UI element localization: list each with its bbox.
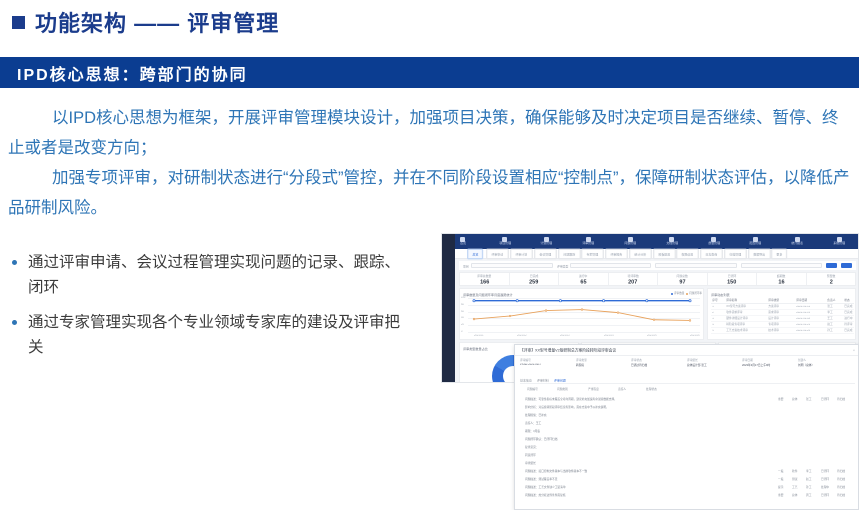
line-chart-plot: 1008060402002023-012023-022023-032023-04… — [468, 298, 700, 332]
data-point — [689, 320, 691, 322]
y-axis-tick: 80 — [461, 303, 464, 306]
stat-value: 207 — [628, 278, 637, 284]
detail-row-text: 复查意见： — [525, 445, 539, 449]
filter-input-4[interactable] — [741, 263, 822, 268]
dashboard-sidebar[interactable] — [442, 234, 455, 383]
filter-bar[interactable]: 项目 评审类型 — [459, 261, 856, 270]
detail-row-meta-item: 工艺 — [792, 485, 797, 489]
detail-row[interactable]: 责任人：王工 — [525, 419, 855, 427]
detail-row-meta-item: 李工 — [806, 469, 811, 473]
detail-row-meta: 一般软件李工已闭环待归档 — [778, 470, 855, 473]
tab-归档管理[interactable]: 归档管理 — [724, 248, 747, 259]
x-axis-tick: 2023-04 — [604, 335, 614, 338]
list-item-label: 通过专家管理实现各个专业领域专家库的建设及评审把关 — [28, 314, 400, 356]
tab-日志查询[interactable]: 日志查询 — [700, 248, 723, 259]
data-point — [509, 315, 511, 317]
y-axis-tick: 20 — [461, 324, 464, 327]
nav-item-评审管理[interactable]: 评审管理 — [567, 237, 609, 246]
data-point — [545, 310, 547, 312]
table-cell: 已完成 — [843, 311, 858, 315]
filter-label-1: 项目 — [463, 263, 469, 268]
tab-会议管理[interactable]: 会议管理 — [534, 248, 557, 259]
detail-row-meta: 重要总体周工已闭环待归档 — [778, 494, 855, 497]
detail-row-meta-item: 已闭环 — [821, 493, 829, 497]
folder-icon — [502, 237, 507, 242]
x-axis-tick: 2023-05 — [647, 335, 657, 338]
detail-subheader: 问题类别 — [557, 388, 568, 392]
tab-评审申请[interactable]: 评审申请 — [486, 248, 509, 259]
gridline — [468, 332, 700, 333]
nav-item-label: 质量管理 — [708, 242, 720, 246]
detail-row-meta-item: 待归档 — [837, 469, 845, 473]
detail-row-meta-item: 重要 — [778, 397, 783, 401]
detail-field: 评审组长总体设计部 张工 — [687, 359, 743, 367]
nav-item-label: 文档管理 — [666, 242, 678, 246]
detail-row-text: 问题描述：可靠性指标未覆盖全寿命周期，建议补充加速寿命试验数据支撑。 — [525, 397, 617, 401]
nav-item-配置管理[interactable]: 配置管理 — [735, 237, 777, 246]
doc-icon — [669, 237, 674, 242]
stat-value: 97 — [679, 278, 685, 284]
tab-权限设置[interactable]: 权限设置 — [676, 248, 699, 259]
y-axis-tick: 0 — [461, 331, 462, 334]
nav-item-项目管理[interactable]: 项目管理 — [484, 237, 526, 246]
nav-item-label: 项目管理 — [499, 242, 511, 246]
nav-item-label: 问题管理 — [624, 242, 636, 246]
data-point — [689, 300, 691, 302]
detail-tab-评审材料[interactable]: 评审材料 — [537, 377, 549, 382]
nav-item-label: 计划管理 — [541, 242, 553, 246]
column-header: 状态 — [843, 299, 858, 303]
tab-模板配置[interactable]: 模板配置 — [653, 248, 676, 259]
nav-item-系统管理[interactable]: 系统管理 — [818, 237, 859, 246]
table-card: 评审动态列表 序号评审名称评审类型评审日期负责人状态1XX型号方案评审方案评审2… — [707, 288, 856, 340]
home-icon — [460, 237, 465, 242]
detail-field-grid: 评审编号PSSR-2023-0317评审类型转阶段评审状态已通过待归档评审组长总… — [520, 359, 855, 367]
detail-row[interactable]: 审查组长 — [525, 459, 855, 467]
detail-field: 评审状态已通过待归档 — [631, 359, 687, 367]
detail-row[interactable]: 复查意见： — [525, 443, 855, 451]
detail-row-text: 审查组长 — [525, 461, 536, 465]
detail-subheader: 问题编号 — [527, 388, 538, 392]
nav-item-label: 系统管理 — [833, 242, 845, 246]
stat-card: 已完成259 — [510, 273, 560, 285]
reset-button[interactable] — [841, 263, 852, 268]
paragraph-2: 加强专项评审，对研制状态进行“分段式”管控，并在不同阶段设置相应“控制点”，保障… — [8, 163, 853, 223]
detail-tab-评审问题[interactable]: 评审问题 — [554, 377, 566, 382]
stat-card: 待评审数207 — [609, 273, 659, 285]
legend-entry: 问题闭环率 — [686, 292, 699, 295]
detail-row-text: 处理措施：已补充 — [525, 413, 547, 417]
flag-icon — [628, 237, 633, 242]
legend-label: 评审数量 — [674, 292, 684, 296]
tab-评审计划[interactable]: 评审计划 — [510, 248, 533, 259]
detail-row-text: 责任人：王工 — [525, 421, 541, 425]
x-axis-tick: 2023-06 — [690, 335, 700, 338]
detail-row-meta-item: 赵工 — [806, 477, 811, 481]
detail-row-meta-item: 待归档 — [837, 485, 845, 489]
detail-row-meta: 提示工艺孙工处理中待归档 — [778, 486, 855, 489]
stat-card: 已闭环150 — [708, 273, 758, 285]
stat-card: 预警数2 — [807, 273, 856, 285]
detail-panel-header: 【评审】XX型号增量V2版研制总方案阶段转阶段评审会议 × — [515, 345, 859, 356]
nav-item-统计报表[interactable]: 统计报表 — [776, 237, 818, 246]
bullet-dot-icon — [12, 260, 17, 265]
search-button[interactable] — [826, 263, 837, 268]
nav-item-质量管理[interactable]: 质量管理 — [693, 237, 735, 246]
detail-row-meta-item: 待归档 — [837, 397, 845, 401]
stat-value: 65 — [580, 278, 586, 284]
data-point — [646, 300, 648, 302]
series-问题闭环率 — [474, 310, 690, 321]
detail-row-meta-item: 总体 — [792, 397, 797, 401]
x-axis-tick: 2023-02 — [517, 335, 527, 338]
chart-icon — [795, 237, 800, 242]
detail-subheader: 责任人 — [618, 388, 626, 392]
detail-row[interactable]: 影响分析：对后续转阶段评审结论有影响，需在方案中予以补充说明。 — [525, 403, 855, 411]
title-marker-icon — [12, 16, 25, 29]
detail-row-meta-item: 周工 — [806, 493, 811, 497]
line-chart-card: 评审数量及问题闭环率月度趋势统计 评审数量问题闭环率 1008060402002… — [459, 288, 704, 340]
detail-row-meta-item: 提示 — [778, 485, 783, 489]
tab-专家管理[interactable]: 专家管理 — [581, 248, 604, 259]
detail-row-meta-item: 重要 — [778, 493, 783, 497]
detail-row-text: 问题描述：热分析边界条件需复核 — [525, 493, 566, 497]
filter-label-2: 评审类型 — [557, 263, 568, 268]
detail-row-meta: 一般测试赵工已闭环待归档 — [778, 478, 855, 481]
calendar-icon — [544, 237, 549, 242]
detail-row-text: 同意闭环 — [525, 453, 536, 457]
detail-row[interactable]: 问题闭环确认：已闭环归档 — [525, 435, 855, 443]
detail-row-meta-item: 已闭环 — [821, 469, 829, 473]
table-cell: 已完成 — [843, 305, 858, 309]
bullet-dot-icon — [12, 320, 17, 325]
gear-icon — [753, 237, 758, 242]
data-point — [653, 319, 655, 321]
detail-row-text: 问题描述：接口控制文件版本与当前软件版本不一致 — [525, 469, 587, 473]
list-item-label: 通过评审申请、会议过程管理实现问题的记录、跟踪、闭环 — [28, 254, 400, 296]
stat-value: 2 — [829, 278, 832, 284]
detail-subheader: 严重程度 — [588, 388, 599, 392]
detail-row[interactable]: 问题描述：工艺文件缺少工装清单提示工艺孙工处理中待归档 — [525, 483, 855, 491]
nav-item-label: 首页 — [460, 242, 466, 246]
detail-rows: 问题描述：可靠性指标未覆盖全寿命周期，建议补充加速寿命试验数据支撑。重要总体张工… — [525, 395, 855, 499]
detail-row-meta-item: 待归档 — [837, 477, 845, 481]
data-point — [516, 300, 518, 302]
data-point — [473, 318, 475, 320]
detail-field-value: 刘明（总体） — [798, 364, 859, 368]
list-item: 通过评审申请、会议过程管理实现问题的记录、跟踪、闭环 — [10, 250, 410, 300]
section-banner-text: IPD核心思想：跨部门的协同 — [0, 61, 248, 85]
list-item: 通过专家管理实现各个专业领域专家库的建设及评审把关 — [10, 310, 410, 360]
table-row[interactable]: 5工艺方案技术评审技术评审2023-03-25孙工已完成 — [711, 328, 854, 334]
stat-card: 评审总数量166 — [460, 273, 510, 285]
nav-item-文档管理[interactable]: 文档管理 — [651, 237, 693, 246]
stat-card: 问题总数97 — [658, 273, 708, 285]
bullet-list: 通过评审申请、会议过程管理实现问题的记录、跟踪、闭环 通过专家管理实现各个专业领… — [10, 250, 410, 370]
legend-dot-icon — [686, 293, 688, 295]
detail-row-text: 问题描述：工艺文件缺少工装清单 — [525, 485, 566, 489]
stat-card-row: 评审总数量166已完成259进行中65待评审数207问题总数97已闭环150超期… — [459, 272, 856, 286]
detail-row-meta-item: 处理中 — [821, 485, 829, 489]
shield-icon — [711, 237, 716, 242]
detail-row-text: 影响分析：对后续转阶段评审结论有影响，需在方案中予以补充说明。 — [525, 405, 609, 409]
detail-field: 评审类型转阶段 — [576, 359, 632, 367]
dashboard-topnav[interactable]: 首页项目管理计划管理评审管理问题管理文档管理质量管理配置管理统计报表系统管理 — [442, 234, 859, 249]
legend-entry: 评审数量 — [671, 292, 682, 295]
tab-问题跟踪[interactable]: 问题跟踪 — [558, 248, 581, 259]
tab-数据导出[interactable]: 数据导出 — [748, 248, 771, 259]
detail-subheaders: 问题编号问题类别严重程度责任人处理状态 — [527, 386, 855, 393]
detail-field-label: 创建人 — [798, 359, 859, 363]
nav-item-label: 统计报表 — [791, 242, 803, 246]
tab-统计分析[interactable]: 统计分析 — [629, 248, 652, 259]
settings-icon — [837, 237, 842, 242]
stat-value: 16 — [778, 278, 784, 284]
table-card-title: 评审动态列表 — [711, 292, 859, 297]
x-axis-tick: 2023-01 — [474, 335, 484, 338]
detail-row[interactable]: 期限：3月底 — [525, 427, 855, 435]
stat-value: 150 — [727, 278, 736, 284]
data-point — [603, 300, 605, 302]
legend-label: 问题闭环率 — [689, 292, 702, 296]
detail-row-meta-item: 已闭环 — [821, 397, 829, 401]
filter-input-1[interactable] — [471, 263, 552, 268]
detail-field: 评审编号PSSR-2023-0317 — [520, 359, 576, 367]
detail-row-meta-item: 软件 — [792, 469, 797, 473]
stat-value: 166 — [480, 278, 489, 284]
body-paragraphs: 以IPD核心思想为框架，开展评审管理模块设计，加强项目决策，确保能够及时决定项目… — [8, 103, 853, 223]
detail-row-text: 问题描述：测试覆盖率不足 — [525, 477, 557, 481]
detail-row-text: 问题闭环确认：已闭环归档 — [525, 437, 557, 441]
table-cell: 待评审 — [843, 323, 858, 327]
stat-value: 259 — [529, 278, 538, 284]
detail-tab-基本信息[interactable]: 基本信息 — [520, 377, 532, 382]
filter-input-2[interactable] — [570, 263, 651, 268]
close-icon[interactable]: × — [853, 347, 855, 352]
table-cell: 进行中 — [843, 317, 858, 321]
section-banner: IPD核心思想：跨部门的协同 — [0, 57, 859, 88]
detail-field: 评审日期2023年3月17日上午9时 — [742, 359, 798, 367]
detail-row[interactable]: 处理措施：已补充 — [525, 411, 855, 419]
detail-row-meta-item: 总体 — [792, 493, 797, 497]
y-axis-tick: 60 — [461, 310, 464, 313]
detail-field: 创建人刘明（总体） — [798, 359, 854, 367]
dashboard-tabs[interactable]: 总览评审申请评审计划会议管理问题跟踪专家管理评审报告统计分析模板配置权限设置日志… — [455, 249, 859, 259]
detail-row-meta-item: 张工 — [806, 397, 811, 401]
detail-row[interactable]: 问题描述：接口控制文件版本与当前软件版本不一致一般软件李工已闭环待归档 — [525, 467, 855, 475]
data-point — [559, 300, 561, 302]
legend-dot-icon — [671, 293, 673, 295]
detail-row-meta-item: 待归档 — [837, 493, 845, 497]
y-axis-tick: 100 — [461, 297, 465, 300]
detail-tabs[interactable]: 基本信息评审材料评审问题 — [520, 376, 855, 384]
detail-row-meta-item: 已闭环 — [821, 477, 829, 481]
data-point — [473, 300, 475, 302]
table-cell: 已完成 — [843, 329, 858, 333]
tab-更多[interactable]: 更多 — [771, 248, 788, 259]
page-title: 功能架构 —— 评审管理 — [12, 6, 279, 38]
line-chart-legend: 评审数量问题闭环率 — [671, 292, 699, 295]
tab-评审报告[interactable]: 评审报告 — [605, 248, 628, 259]
detail-row-meta: 重要总体张工已闭环待归档 — [778, 398, 855, 401]
detail-subheader: 处理状态 — [646, 388, 657, 392]
mini-table: 序号评审名称评审类型评审日期负责人状态1XX型号方案评审方案评审2023-03-… — [711, 298, 854, 334]
stat-card: 超期数16 — [757, 273, 807, 285]
detail-row[interactable]: 同意闭环 — [525, 451, 855, 459]
user-icon — [586, 237, 591, 242]
y-axis-tick: 40 — [461, 317, 464, 320]
detail-panel-title: 【评审】XX型号增量V2版研制总方案阶段转阶段评审会议 — [520, 347, 616, 353]
nav-item-label: 配置管理 — [750, 242, 762, 246]
detail-row[interactable]: 问题描述：测试覆盖率不足一般测试赵工已闭环待归档 — [525, 475, 855, 483]
detail-row-meta-item: 一般 — [778, 477, 783, 481]
x-axis-tick: 2023-03 — [560, 335, 570, 338]
data-point — [581, 309, 583, 311]
detail-row-text: 期限：3月底 — [525, 429, 540, 433]
nav-item-问题管理[interactable]: 问题管理 — [609, 237, 651, 246]
page-title-text: 功能架构 —— 评审管理 — [35, 6, 279, 38]
detail-row-meta-item: 孙工 — [806, 485, 811, 489]
detail-row[interactable]: 问题描述：可靠性指标未覆盖全寿命周期，建议补充加速寿命试验数据支撑。重要总体张工… — [525, 395, 855, 403]
detail-row-meta-item: 一般 — [778, 469, 783, 473]
nav-item-label: 评审管理 — [582, 242, 594, 246]
line-series-group — [468, 298, 700, 332]
filter-input-3[interactable] — [655, 263, 736, 268]
data-point — [617, 312, 619, 314]
stat-card: 进行中65 — [559, 273, 609, 285]
detail-row-meta-item: 测试 — [792, 477, 797, 481]
nav-item-计划管理[interactable]: 计划管理 — [526, 237, 568, 246]
paragraph-1: 以IPD核心思想为框架，开展评审管理模块设计，加强项目决策，确保能够及时决定项目… — [8, 103, 853, 163]
detail-panel-screenshot: 【评审】XX型号增量V2版研制总方案阶段转阶段评审会议 × 评审编号PSSR-2… — [514, 344, 859, 510]
tab-总览[interactable]: 总览 — [467, 248, 484, 259]
detail-row[interactable]: 问题描述：热分析边界条件需复核重要总体周工已闭环待归档 — [525, 491, 855, 499]
